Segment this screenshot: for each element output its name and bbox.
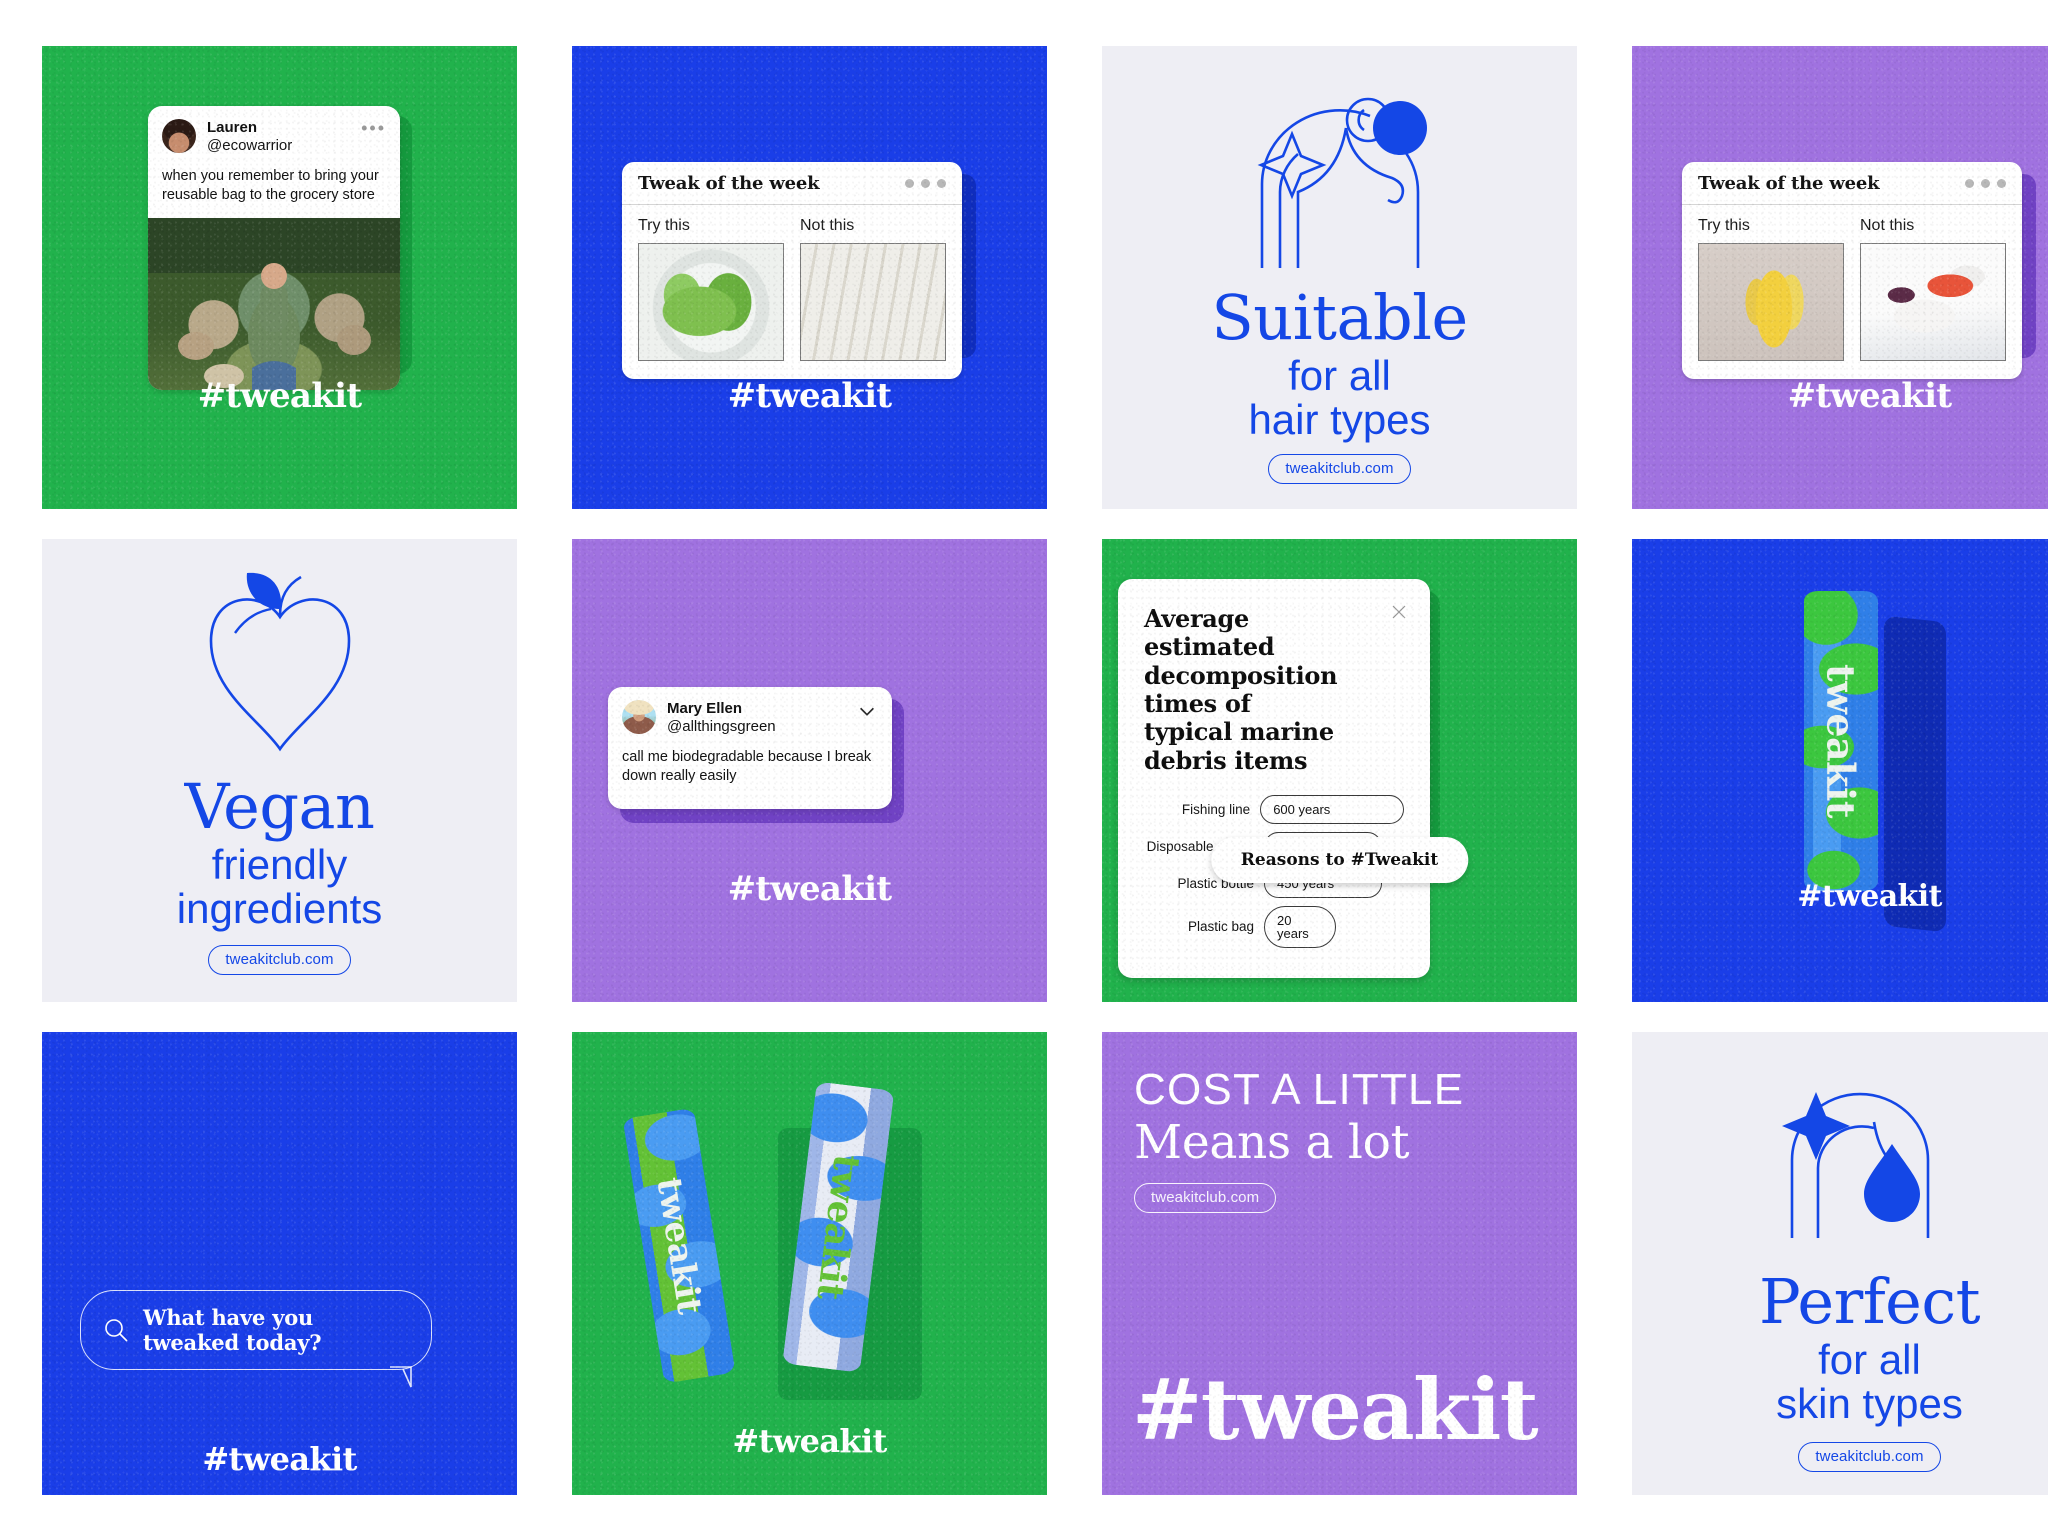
compare-column-not: Not this: [1860, 217, 2006, 361]
hair-sparkle-icon: [1240, 92, 1440, 277]
product-tube: tweakit: [1804, 591, 1878, 891]
brand-wordmark: #tweakit: [202, 1440, 356, 1478]
tweet-author-name: Mary Ellen: [667, 700, 776, 718]
compare-column-try: Try this: [1698, 217, 1844, 361]
tile-footer: tweakitclub.com: [42, 945, 517, 975]
info-popup[interactable]: Average estimated decomposition times of…: [1118, 579, 1430, 978]
ellipsis-icon[interactable]: •••: [361, 119, 386, 137]
tweet-card[interactable]: Mary Ellen @allthingsgreen call me biode…: [608, 687, 892, 809]
headline-big: Suitable: [1102, 286, 1577, 349]
product-label: tweakit: [809, 1152, 868, 1302]
tile-tweak-of-the-week-banana[interactable]: Tweak of the week Try this Not this #twe…: [1632, 46, 2048, 509]
headline-sub1: friendly: [42, 844, 517, 887]
window-title: Tweak of the week: [638, 173, 819, 194]
row-value: 20 years: [1264, 906, 1336, 948]
tile-perfect-skin[interactable]: Perfect for all skin types tweakitclub.c…: [1632, 1032, 2048, 1495]
tile-footer: tweakitclub.com: [1632, 1442, 2048, 1472]
product-tube: tweakit: [623, 1108, 736, 1384]
tweet-card[interactable]: Lauren @ecowarrior ••• when you remember…: [148, 106, 400, 390]
headline-sub2: ingredients: [42, 888, 517, 931]
url-pill[interactable]: tweakitclub.com: [1268, 454, 1410, 484]
tile-tweak-of-the-week-tea[interactable]: Tweak of the week Try this Not this #twe…: [572, 46, 1047, 509]
headline-big: Perfect: [1632, 1270, 2048, 1333]
brand-wordmark-large: #tweakit: [1132, 1360, 1537, 1459]
cost-headline-line2: Means a lot: [1134, 1118, 1464, 1167]
row-label: Fishing line: [1144, 802, 1250, 818]
tile-product-single[interactable]: tweakit #tweakit: [1632, 539, 2048, 1002]
tile-footer: #tweakit: [42, 376, 517, 416]
compare-label-not: Not this: [1860, 217, 2006, 235]
tile-footer: #tweakit: [1632, 879, 2048, 914]
url-pill[interactable]: tweakitclub.com: [1134, 1183, 1276, 1213]
window-body: Try this Not this: [622, 205, 962, 379]
skin-droplet-sparkle-icon: [1780, 1082, 1960, 1247]
social-post-grid: Lauren @ecowarrior ••• when you remember…: [0, 0, 2048, 1540]
brand-wordmark: #tweakit: [728, 376, 892, 416]
compare-image-try: [638, 243, 784, 361]
search-icon[interactable]: [103, 1317, 129, 1343]
headline-sub1: for all: [1632, 1339, 2048, 1382]
browser-window[interactable]: Tweak of the week Try this Not this: [622, 162, 962, 379]
url-pill[interactable]: tweakitclub.com: [208, 945, 350, 975]
tile-suitable-hair[interactable]: Suitable for all hair types tweakitclub.…: [1102, 46, 1577, 509]
brand-wordmark: #tweakit: [1788, 376, 1952, 416]
brand-wordmark: #tweakit: [732, 1422, 886, 1460]
cost-headline-line1: COST A LITTLE: [1134, 1068, 1464, 1112]
tile-footer: #tweakit: [42, 1440, 517, 1478]
tile-footer: #tweakit: [572, 376, 1047, 416]
tile-vegan[interactable]: Vegan friendly ingredients tweakitclub.c…: [42, 539, 517, 1002]
tweet-text: call me biodegradable because I break do…: [608, 744, 892, 809]
brand-wordmark: #tweakit: [198, 376, 362, 416]
compare-column-not: Not this: [800, 217, 946, 361]
brand-wordmark: #tweakit: [1797, 879, 1942, 914]
compare-column-try: Try this: [638, 217, 784, 361]
row-label: Plastic bag: [1144, 919, 1254, 935]
tile-footer: tweakitclub.com: [1102, 454, 1577, 484]
avatar: [162, 119, 196, 153]
window-title: Tweak of the week: [1698, 173, 1879, 194]
url-pill[interactable]: tweakitclub.com: [1798, 1442, 1940, 1472]
search-question: What have you tweaked today?: [143, 1305, 409, 1355]
window-titlebar: Tweak of the week: [622, 162, 962, 205]
tweet-header: Mary Ellen @allthingsgreen: [608, 687, 892, 744]
brand-wordmark: #tweakit: [728, 869, 892, 909]
avatar: [622, 700, 656, 734]
tweet-text: when you remember to bring your reusable…: [148, 163, 400, 218]
compare-image-not: [800, 243, 946, 361]
tile-search[interactable]: What have you tweaked today? #tweakit: [42, 1032, 517, 1495]
headline-big: Vegan: [42, 775, 517, 838]
tweet-author-handle: @allthingsgreen: [667, 718, 776, 736]
tweet-photo: [148, 218, 400, 390]
row-value: 600 years: [1260, 795, 1404, 824]
tile-tweet-lauren[interactable]: Lauren @ecowarrior ••• when you remember…: [42, 46, 517, 509]
tile-footer: #tweakit: [572, 869, 1047, 909]
window-body: Try this Not this: [1682, 205, 2022, 379]
tweet-header: Lauren @ecowarrior •••: [148, 106, 400, 163]
headline-sub1: for all: [1102, 355, 1577, 398]
popup-title: Average estimated decomposition times of…: [1144, 605, 1344, 775]
headline-sub2: hair types: [1102, 399, 1577, 442]
tile-footer: #tweakit: [572, 1422, 1047, 1460]
compare-label-try: Try this: [638, 217, 784, 235]
close-icon[interactable]: [1390, 603, 1408, 621]
bubble-tail-icon: [389, 1366, 413, 1388]
compare-label-try: Try this: [1698, 217, 1844, 235]
product-label: tweakit: [1819, 664, 1864, 818]
compare-label-not: Not this: [800, 217, 946, 235]
headline-sub2: skin types: [1632, 1383, 2048, 1426]
window-titlebar: Tweak of the week: [1682, 162, 2022, 205]
tile-decomposition[interactable]: Average estimated decomposition times of…: [1102, 539, 1577, 1002]
table-row: Plastic bag 20 years: [1144, 906, 1404, 948]
tweet-author-name: Lauren: [207, 119, 292, 137]
heart-apple-icon: [191, 571, 369, 766]
tweet-author-handle: @ecowarrior: [207, 137, 292, 155]
table-row: Fishing line 600 years: [1144, 795, 1404, 824]
chevron-down-icon[interactable]: [856, 700, 878, 722]
window-dots-icon[interactable]: [1965, 179, 2006, 188]
tile-headline: Perfect for all skin types: [1632, 1270, 2048, 1426]
compare-image-try: [1698, 243, 1844, 361]
tile-headline: Suitable for all hair types: [1102, 286, 1577, 442]
tile-tweet-mary-ellen[interactable]: Mary Ellen @allthingsgreen call me biode…: [572, 539, 1047, 1002]
tile-headline: Vegan friendly ingredients: [42, 775, 517, 931]
tile-footer: #tweakit: [1632, 376, 2048, 416]
reasons-button[interactable]: Reasons to #Tweakit: [1211, 837, 1468, 883]
tile-cost-a-little[interactable]: COST A LITTLE Means a lot tweakitclub.co…: [1102, 1032, 1577, 1495]
tile-product-pair[interactable]: tweakit tweakit #tweakit: [572, 1032, 1047, 1495]
product-label: tweakit: [649, 1175, 710, 1317]
compare-image-not: [1860, 243, 2006, 361]
window-dots-icon[interactable]: [905, 179, 946, 188]
browser-window[interactable]: Tweak of the week Try this Not this: [1682, 162, 2022, 379]
search-input[interactable]: What have you tweaked today?: [80, 1290, 432, 1370]
